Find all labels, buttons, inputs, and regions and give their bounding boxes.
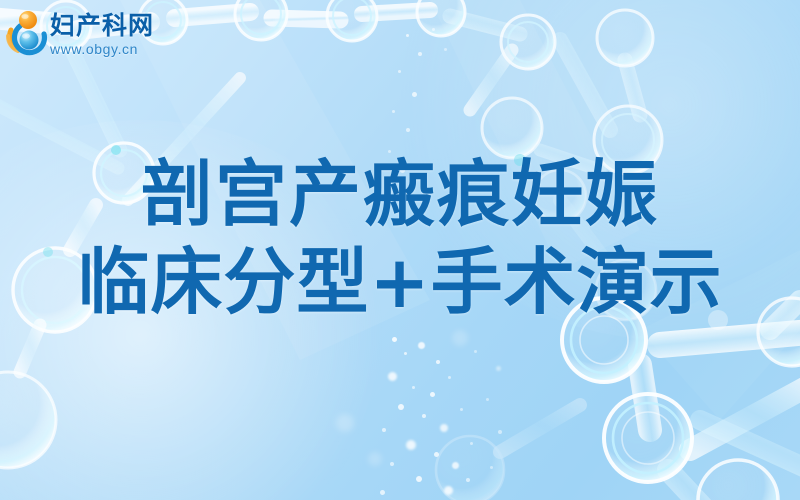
title-block: 剖宫产瘢痕妊娠 临床分型+手术演示 bbox=[0, 150, 800, 326]
site-logo[interactable]: 妇产科网 www.obgy.cn bbox=[6, 8, 154, 60]
molecular-background-art bbox=[0, 0, 800, 500]
title-line-1: 剖宫产瘢痕妊娠 bbox=[0, 150, 800, 238]
glow-wash-right bbox=[390, 0, 800, 340]
logo-text-group: 妇产科网 www.obgy.cn bbox=[50, 13, 154, 56]
bokeh-particles bbox=[0, 0, 800, 500]
glow-wash-left bbox=[0, 120, 400, 500]
logo-site-name: 妇产科网 bbox=[50, 13, 154, 38]
title-line-2: 临床分型+手术演示 bbox=[0, 238, 800, 326]
logo-site-url: www.obgy.cn bbox=[50, 42, 154, 56]
logo-mark-icon bbox=[6, 10, 48, 58]
banner: 妇产科网 www.obgy.cn 剖宫产瘢痕妊娠 临床分型+手术演示 bbox=[0, 0, 800, 500]
